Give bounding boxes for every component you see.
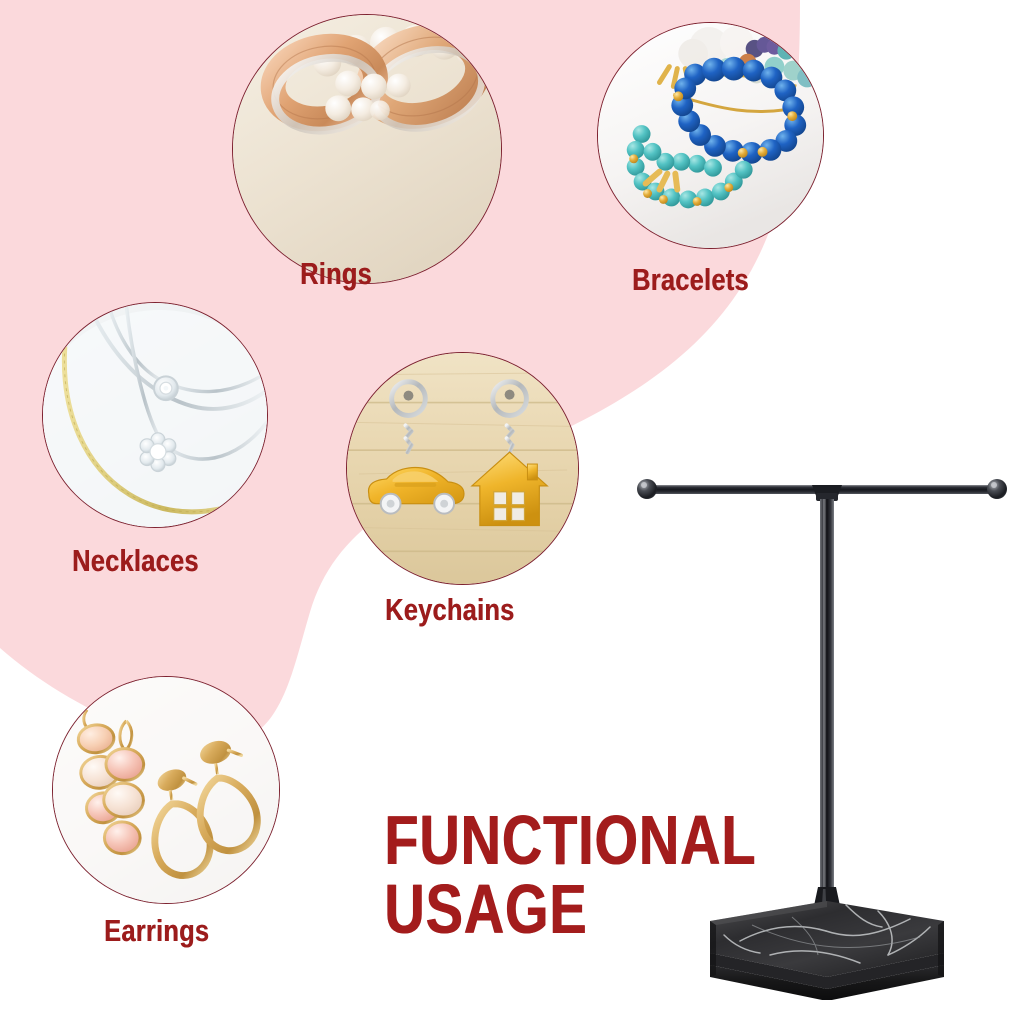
caption-earrings: Earrings [104, 915, 209, 946]
keychains-photo-icon [347, 353, 578, 584]
infographic-canvas: Rings [0, 0, 1024, 1024]
necklaces-photo-icon [43, 303, 267, 527]
caption-keychains: Keychains [385, 594, 514, 625]
category-bubble-earrings[interactable] [52, 676, 280, 904]
category-bubble-necklaces[interactable] [42, 302, 268, 528]
rings-photo-icon [233, 15, 501, 283]
category-bubble-bracelets[interactable] [597, 22, 824, 249]
category-bubble-keychains[interactable] [346, 352, 579, 585]
jewelry-stand-product [620, 455, 1024, 1000]
category-bubble-rings[interactable] [232, 14, 502, 284]
bracelets-photo-icon [598, 23, 823, 248]
caption-bracelets: Bracelets [632, 264, 749, 295]
caption-rings: Rings [300, 258, 372, 289]
earrings-photo-icon [53, 677, 279, 903]
caption-necklaces: Necklaces [72, 545, 199, 576]
